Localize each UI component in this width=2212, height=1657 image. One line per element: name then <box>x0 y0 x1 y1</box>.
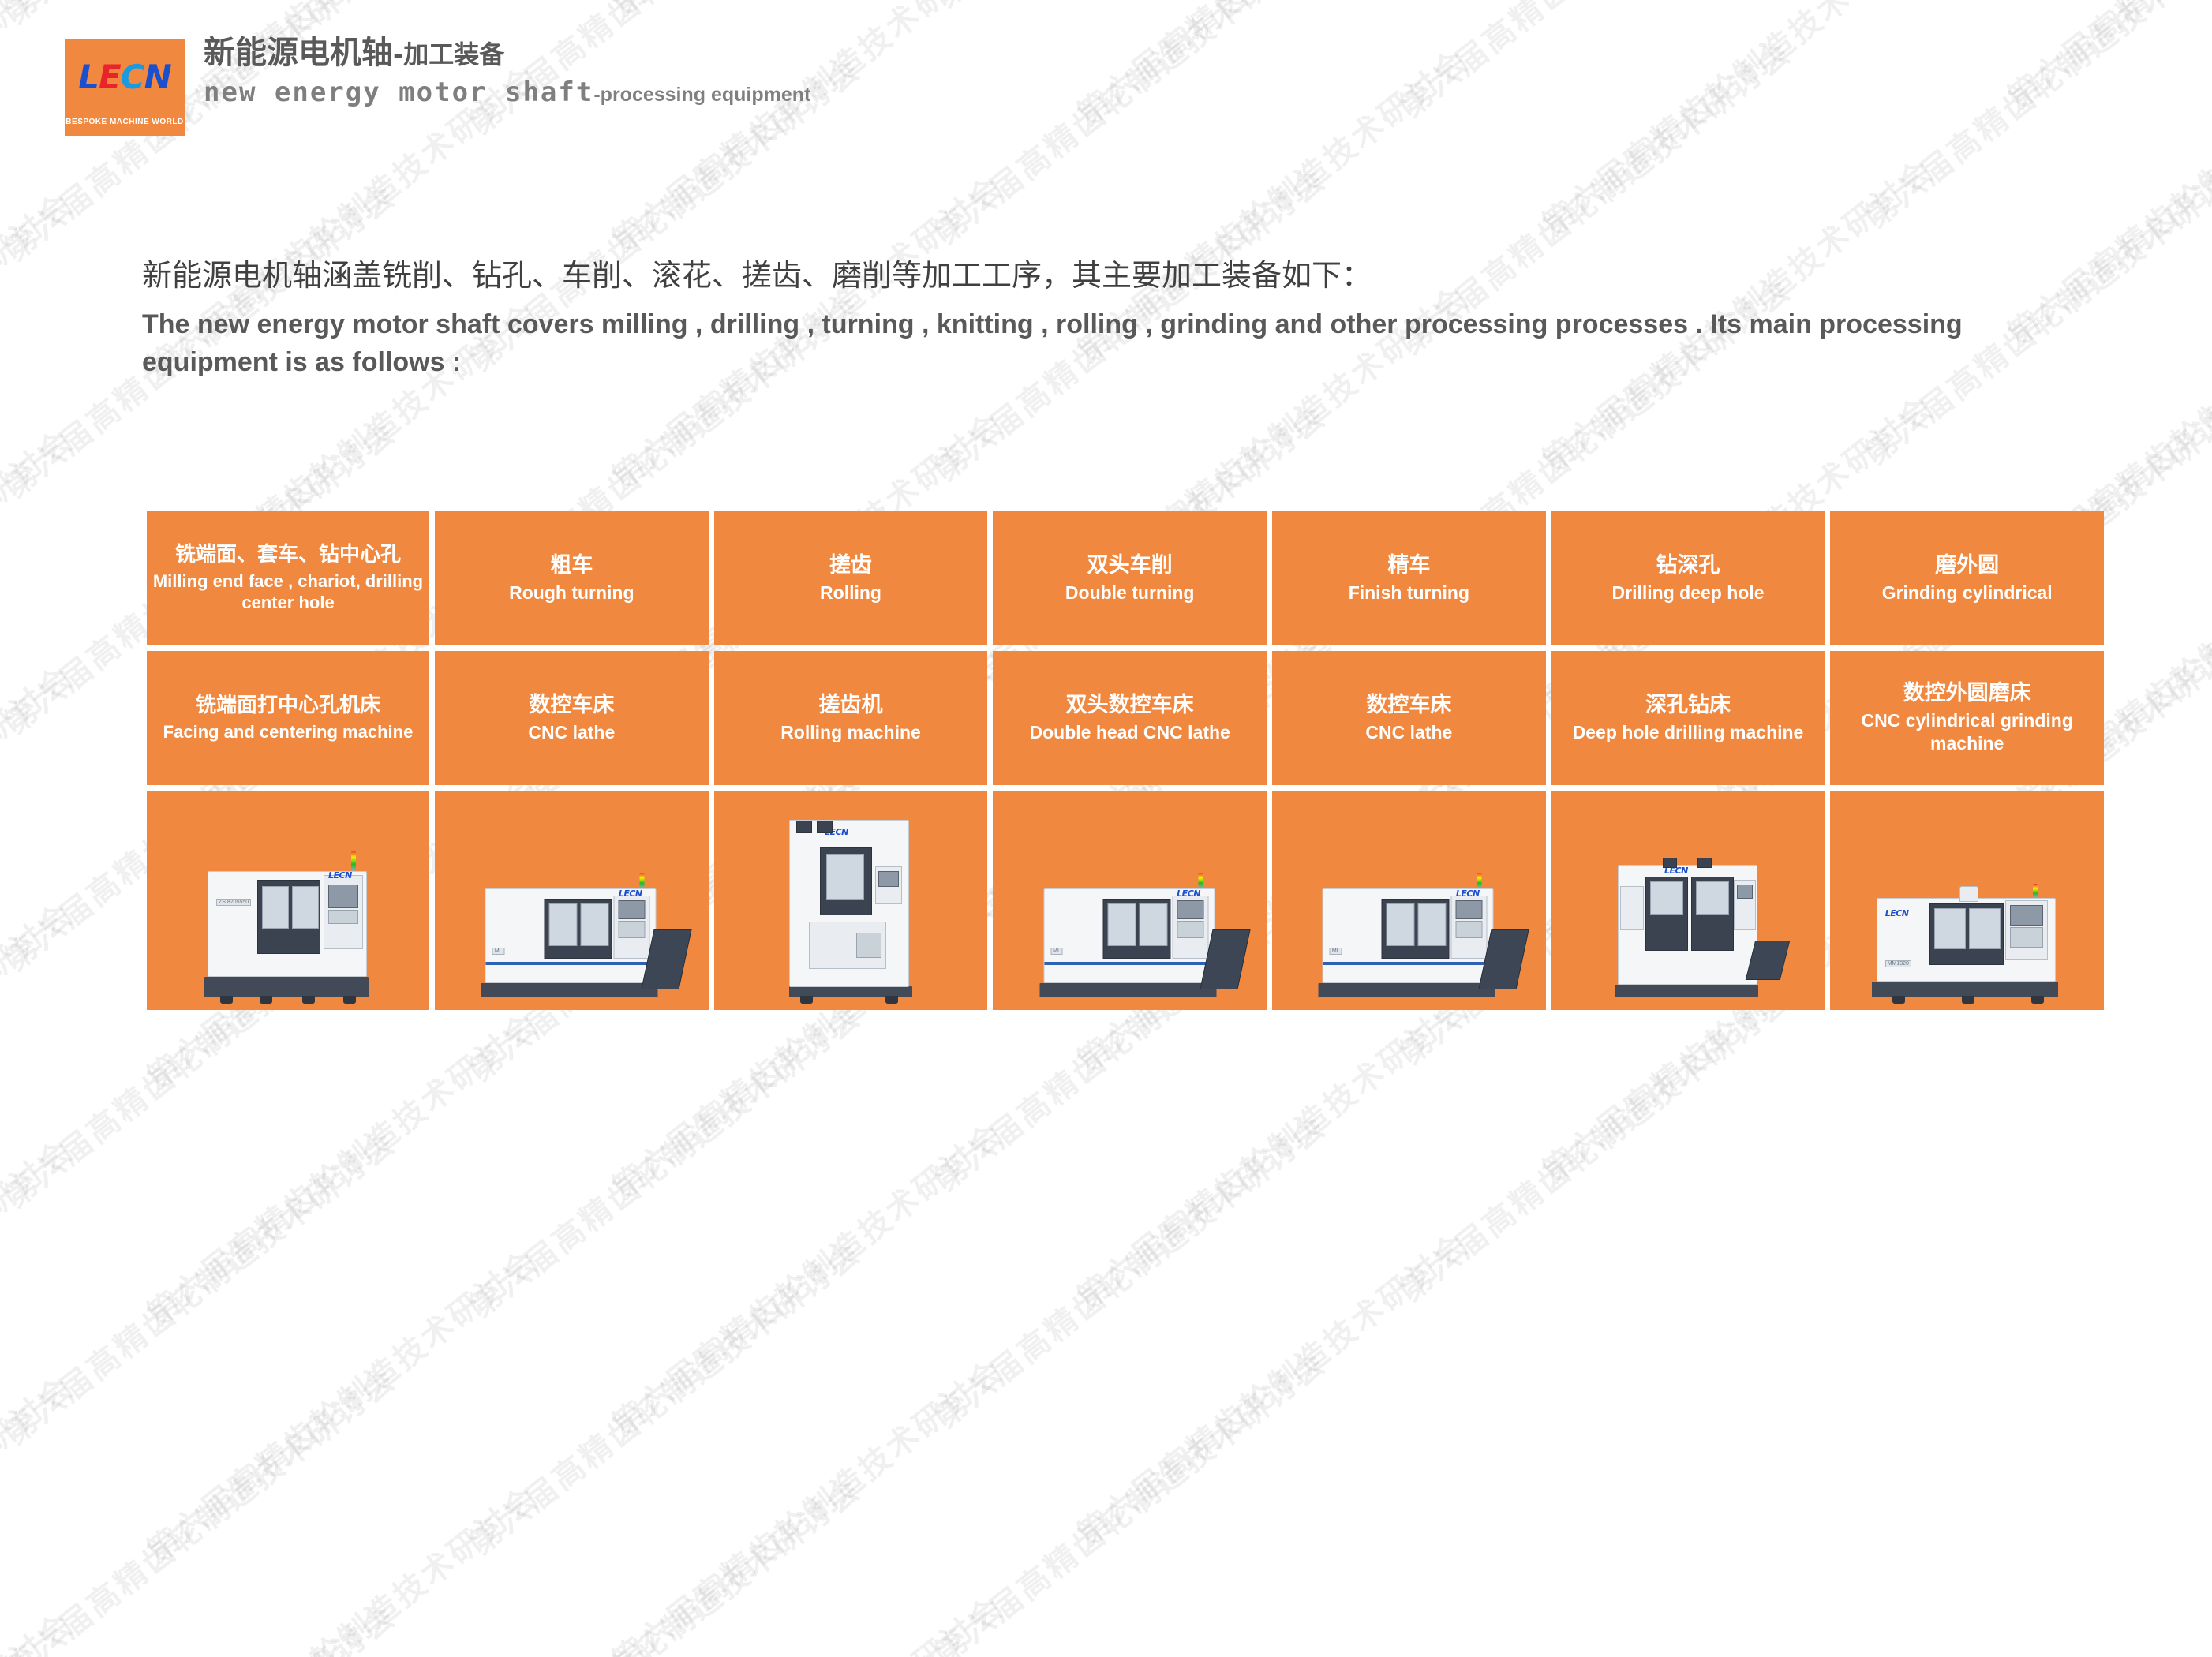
machine-row: 铣端面打中心孔机床Facing and centering machine数控车… <box>147 651 2104 785</box>
machine-window-right <box>1696 881 1729 915</box>
machine-window-left <box>262 886 289 929</box>
machine-brand-mark: LECN <box>1177 888 1200 899</box>
process-label-cn: 粗车 <box>550 553 593 579</box>
machine-cell-1[interactable]: 铣端面打中心孔机床Facing and centering machine <box>147 651 429 785</box>
machine-signal-tower <box>1198 873 1203 888</box>
page-title: 新能源电机轴-加工装备 new energy motor shaft-proce… <box>204 35 810 109</box>
machine-base <box>1039 983 1216 997</box>
machine-base <box>481 983 658 997</box>
machine-base <box>1872 982 2058 997</box>
machine-window-left <box>549 903 578 946</box>
machine-keypad <box>2010 927 2043 948</box>
process-label-en: Rolling <box>820 582 881 604</box>
machine-label-en: Facing and centering machine <box>163 721 414 743</box>
machine-brand-mark: LECN <box>1456 888 1480 899</box>
facing-centering-machine-photo[interactable]: LECNZS 8205550 <box>147 791 429 1010</box>
lecn-logo: LECN BESPOKE MACHINE WORLD <box>65 39 185 136</box>
process-label-cn: 钻深孔 <box>1656 553 1720 579</box>
process-label-cn: 磨外圆 <box>1935 553 1999 579</box>
machine-label-en: Rolling machine <box>780 721 921 744</box>
machine-foot-right <box>2031 996 2044 1004</box>
title-english: new energy motor shaft-processing equipm… <box>204 77 810 109</box>
process-cell-6[interactable]: 钻深孔Drilling deep hole <box>1551 511 1825 645</box>
machine-foot-left <box>1892 996 1905 1004</box>
machine-window-right <box>1418 903 1447 946</box>
machine-cell-4[interactable]: 双头数控车床Double head CNC lathe <box>993 651 1267 785</box>
machine-model-label: MM1320 <box>1885 960 1911 967</box>
machine-keypad <box>328 910 358 924</box>
machine-top-cap-right <box>817 821 833 833</box>
machine-cell-6[interactable]: 深孔钻床Deep hole drilling machine <box>1551 651 1825 785</box>
machine-foot-left <box>800 996 813 1004</box>
machine-foot-2 <box>260 996 272 1004</box>
process-label-en: Milling end face , chariot, drilling cen… <box>152 570 425 614</box>
machine-label-en: Double head CNC lathe <box>1030 721 1230 744</box>
machine-brand-mark: LECN <box>619 888 642 899</box>
machine-window-right <box>292 886 319 929</box>
process-label-en: Grinding cylindrical <box>1882 582 2053 604</box>
machine-side-cabinet <box>1620 886 1644 930</box>
machine-body: LECN <box>1618 865 1757 985</box>
machine-signal-tower <box>351 851 356 871</box>
process-cell-7[interactable]: 磨外圆Grinding cylindrical <box>1830 511 2104 645</box>
process-label-cn: 铣端面、套车、钻中心孔 <box>175 543 401 568</box>
process-label-en: Finish turning <box>1349 582 1469 604</box>
cnc-lathe-photo[interactable]: LECNML <box>435 791 709 1010</box>
machine-label-cn: 数控车床 <box>529 693 614 719</box>
machine-signal-tower <box>1477 873 1482 888</box>
machine-screen <box>328 885 358 908</box>
deep-hole-drilling-machine-photo[interactable]: LECN <box>1551 791 1825 1010</box>
machine-label-en: CNC cylindrical grinding machine <box>1835 709 2099 755</box>
machine-base <box>204 977 369 997</box>
machine-label-cn: 数控车床 <box>1366 693 1451 719</box>
cnc-cylindrical-grinding-machine-photo[interactable]: LECNMM1320 <box>1830 791 2104 1010</box>
machine-screen <box>619 900 646 919</box>
finish-cnc-lathe-photo[interactable]: LECNML <box>1272 791 1546 1010</box>
machine-top-cap-right <box>1697 858 1712 868</box>
machine-accent-stripe <box>486 962 656 965</box>
machine-illustration: LECNZS 8205550 <box>208 871 369 997</box>
machine-body: LECNML <box>1323 888 1494 983</box>
machine-screen <box>1456 900 1483 919</box>
machine-label-en: CNC lathe <box>1365 721 1452 744</box>
machine-label-en: CNC lathe <box>528 721 615 744</box>
machine-window-left <box>1387 903 1415 946</box>
machine-illustration: LECNML <box>485 888 658 997</box>
machine-accent-stripe <box>1323 962 1493 965</box>
process-label-cn: 搓齿 <box>829 553 872 579</box>
machine-brand-mark: LECN <box>328 870 352 881</box>
title-chinese-main: 新能源电机轴 <box>204 35 393 71</box>
logo-tagline: BESPOKE MACHINE WORLD <box>65 118 185 126</box>
machine-window-right <box>1139 903 1167 946</box>
double-head-cnc-lathe-photo[interactable]: LECNML <box>993 791 1267 1010</box>
machine-signal-tower <box>2033 884 2038 898</box>
title-english-main: new energy motor shaft <box>204 77 593 108</box>
machine-cell-3[interactable]: 搓齿机Rolling machine <box>714 651 988 785</box>
process-label-en: Double turning <box>1065 582 1195 604</box>
machine-foot-1 <box>220 996 233 1004</box>
machine-window-right <box>1969 908 2001 949</box>
title-chinese: 新能源电机轴-加工装备 <box>204 35 810 72</box>
machine-screen <box>1737 885 1753 899</box>
machine-vent <box>856 933 881 958</box>
machine-brand-mark: LECN <box>1885 908 1909 918</box>
machine-model-label: ZS 8205550 <box>216 899 251 906</box>
machine-model-label: ML <box>1330 948 1342 955</box>
photo-row: LECNZS 8205550LECNMLLECNLECNMLLECNMLLECN… <box>147 791 2104 1010</box>
process-label-en: Rough turning <box>509 582 634 604</box>
machine-body: LECNMM1320 <box>1877 898 2056 982</box>
process-label-cn: 双头车削 <box>1087 553 1173 579</box>
machine-screen <box>1177 900 1203 919</box>
machine-cell-2[interactable]: 数控车床CNC lathe <box>435 651 709 785</box>
machine-illustration: LECNML <box>1043 888 1216 997</box>
machine-label-cn: 搓齿机 <box>819 693 883 719</box>
machine-window-left <box>1934 908 1966 949</box>
machine-illustration: LECNML <box>1323 888 1495 997</box>
machine-label-cn: 双头数控车床 <box>1066 693 1194 719</box>
machine-illustration: LECN <box>789 820 912 997</box>
machine-screen <box>878 871 899 887</box>
machine-window-right <box>581 903 609 946</box>
rolling-machine-photo[interactable]: LECN <box>714 791 988 1010</box>
process-cell-1[interactable]: 铣端面、套车、钻中心孔Milling end face , chariot, d… <box>147 511 429 645</box>
machine-screen <box>2010 905 2043 926</box>
machine-illustration: LECNMM1320 <box>1877 898 2058 997</box>
logo-wordmark: LECN <box>78 61 170 94</box>
machine-foot-4 <box>343 996 356 1004</box>
machine-cell-7[interactable]: 数控外圆磨床CNC cylindrical grinding machine <box>1830 651 2104 785</box>
intro-english: The new energy motor shaft covers millin… <box>142 305 2099 382</box>
machine-keypad <box>1456 921 1483 938</box>
machine-body: LECNML <box>1043 888 1215 983</box>
machine-label-cn: 深孔钻床 <box>1645 693 1731 719</box>
machine-foot-right <box>885 996 898 1004</box>
machine-base <box>1615 985 1758 997</box>
process-cell-3[interactable]: 搓齿Rolling <box>714 511 988 645</box>
machine-window-left <box>1107 903 1136 946</box>
machine-body: LECN <box>789 820 909 987</box>
machine-keypad <box>1177 921 1203 938</box>
machine-label-cn: 铣端面打中心孔机床 <box>196 694 380 719</box>
machine-signal-tower <box>640 873 645 888</box>
process-label-cn: 精车 <box>1387 553 1430 579</box>
process-label-en: Drilling deep hole <box>1612 582 1765 604</box>
intro-paragraph: 新能源电机轴涵盖铣削、钻孔、车削、滚花、搓齿、磨削等加工工序，其主要加工装备如下… <box>142 254 2099 382</box>
machine-body: LECNZS 8205550 <box>208 871 367 977</box>
machine-coolant-tank <box>1959 886 1978 902</box>
process-row: 铣端面、套车、钻中心孔Milling end face , chariot, d… <box>147 511 2104 645</box>
machine-illustration: LECN <box>1618 865 1758 997</box>
slide-header: LECN BESPOKE MACHINE WORLD 新能源电机轴-加工装备 n… <box>0 0 2212 166</box>
machine-body: LECNML <box>485 888 657 983</box>
machine-keypad <box>619 921 646 938</box>
machine-window <box>826 854 864 900</box>
intro-chinese: 新能源电机轴涵盖铣削、钻孔、车削、滚花、搓齿、磨削等加工工序，其主要加工装备如下… <box>142 254 2099 297</box>
machine-cell-5[interactable]: 数控车床CNC lathe <box>1272 651 1546 785</box>
machine-foot-mid <box>1962 996 1974 1004</box>
title-chinese-suffix: -加工装备 <box>393 39 504 69</box>
process-cell-2[interactable]: 粗车Rough turning <box>435 511 709 645</box>
process-cell-4[interactable]: 双头车削Double turning <box>993 511 1267 645</box>
machine-window-left <box>1650 881 1683 915</box>
equipment-table: 铣端面、套车、钻中心孔Milling end face , chariot, d… <box>147 511 2104 1010</box>
title-english-suffix: -processing equipment <box>593 84 810 106</box>
machine-top-cap-left <box>1663 858 1677 868</box>
machine-top-cap-left <box>796 821 812 833</box>
machine-model-label: ML <box>492 948 505 955</box>
machine-label-cn: 数控外圆磨床 <box>1903 681 2031 707</box>
machine-base <box>1319 983 1495 997</box>
machine-accent-stripe <box>1044 962 1214 965</box>
process-cell-5[interactable]: 精车Finish turning <box>1272 511 1546 645</box>
machine-foot-3 <box>302 996 315 1004</box>
machine-model-label: ML <box>1050 948 1063 955</box>
machine-label-en: Deep hole drilling machine <box>1573 721 1804 744</box>
